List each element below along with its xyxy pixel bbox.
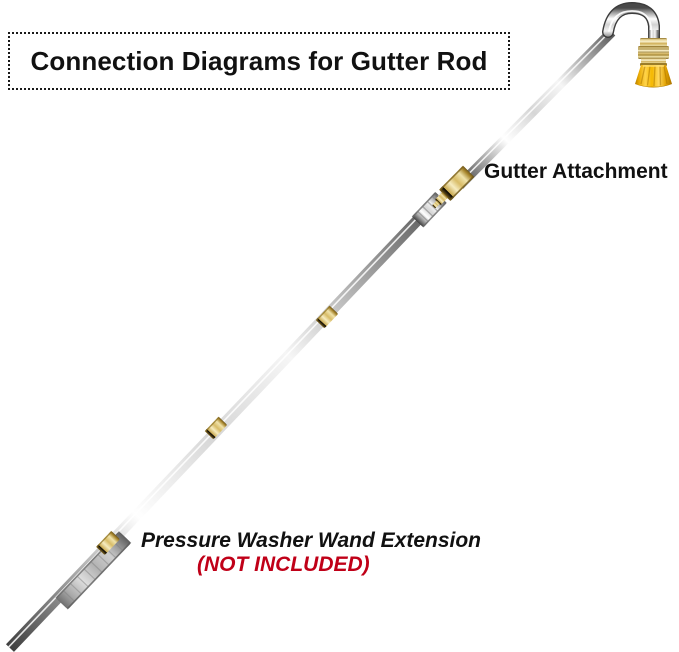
title-box: Connection Diagrams for Gutter Rod bbox=[8, 32, 510, 90]
nozzle-brass-coupler bbox=[638, 38, 669, 66]
grip-body bbox=[55, 531, 131, 609]
yellow-spray-nozzle bbox=[635, 65, 672, 88]
label-gutter-attachment: Gutter Attachment bbox=[484, 160, 668, 184]
label-wand-extension: Pressure Washer Wand Extension bbox=[141, 529, 481, 553]
rubber-grip-sleeve bbox=[55, 531, 131, 609]
product-diagram-page: Connection Diagrams for Gutter Rod Gutte… bbox=[0, 0, 679, 652]
page-title: Connection Diagrams for Gutter Rod bbox=[31, 46, 488, 77]
nozzle-top-highlight bbox=[643, 65, 664, 67]
label-not-included: (NOT INCLUDED) bbox=[197, 553, 370, 577]
coupler-collar-top bbox=[640, 38, 667, 47]
wand-extension-rod bbox=[6, 186, 452, 652]
coupler-ribs bbox=[638, 48, 669, 55]
male-quick-connect bbox=[428, 166, 475, 213]
